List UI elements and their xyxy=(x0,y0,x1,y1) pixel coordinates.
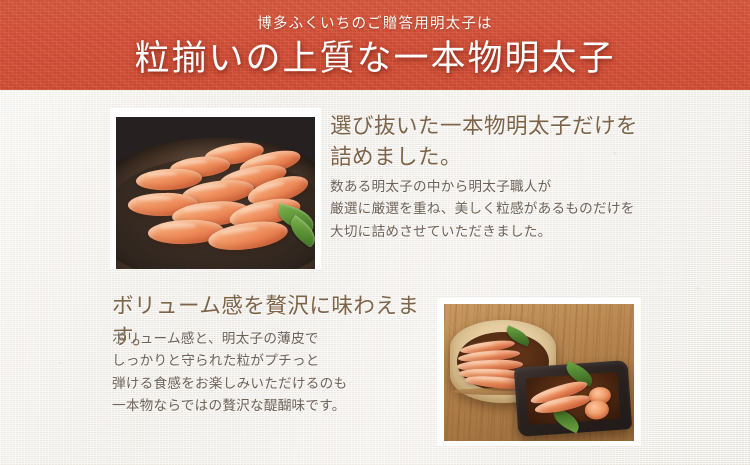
photo-canvas-tub-and-plate xyxy=(444,304,634,441)
product-promo-page: 博多ふくいちのご贈答用明太子は 粒揃いの上質な一本物明太子 xyxy=(0,0,750,465)
section-2-product-photo xyxy=(437,298,641,446)
section-2-body-text: ボリューム感と、明太子の薄皮で しっかりと守られた粒がプチっと 弾ける食感をお楽… xyxy=(112,328,442,418)
wooden-table-scene xyxy=(444,304,634,441)
header-banner: 博多ふくいちのご贈答用明太子は 粒揃いの上質な一本物明太子 xyxy=(0,0,750,90)
header-subtitle: 博多ふくいちのご贈答用明太子は xyxy=(0,14,750,34)
dark-plate-scene xyxy=(116,117,315,269)
section-1-heading: 選び抜いた一本物明太子だけを 詰めました。 xyxy=(330,111,640,173)
page-title: 粒揃いの上質な一本物明太子 xyxy=(0,36,750,81)
photo-canvas-mentaiko-plate xyxy=(116,117,315,269)
section-1-product-photo xyxy=(110,108,321,269)
section-1-body-text: 数ある明太子の中から明太子職人が 厳選に厳選を重ね、美しく粒感があるものだけを … xyxy=(330,176,650,243)
header-inner: 博多ふくいちのご贈答用明太子は 粒揃いの上質な一本物明太子 xyxy=(0,0,750,90)
black-plate xyxy=(514,360,633,436)
